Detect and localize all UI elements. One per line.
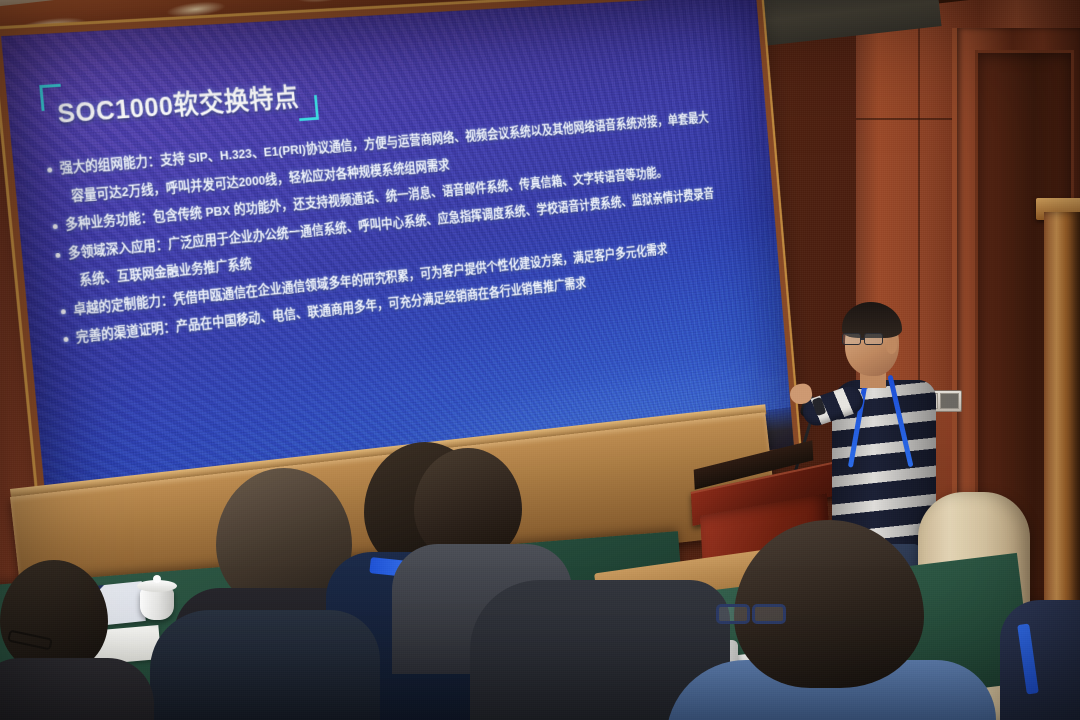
conference-room-photo: SOC1000软交换特点 强大的组网能力：支持 SIP、H.323、E1(PRI… <box>0 0 1080 720</box>
torso <box>1000 600 1080 720</box>
teacup-lidded <box>140 588 174 620</box>
eyeglasses-icon <box>842 333 886 346</box>
attendee-front-left <box>0 560 140 720</box>
attendee-front-right <box>672 520 972 720</box>
attendee-far-right <box>1000 600 1080 720</box>
attendee-foreground-shoulder <box>150 610 380 720</box>
torso <box>0 658 154 720</box>
head <box>0 560 108 672</box>
eyeglasses-icon <box>716 604 780 626</box>
